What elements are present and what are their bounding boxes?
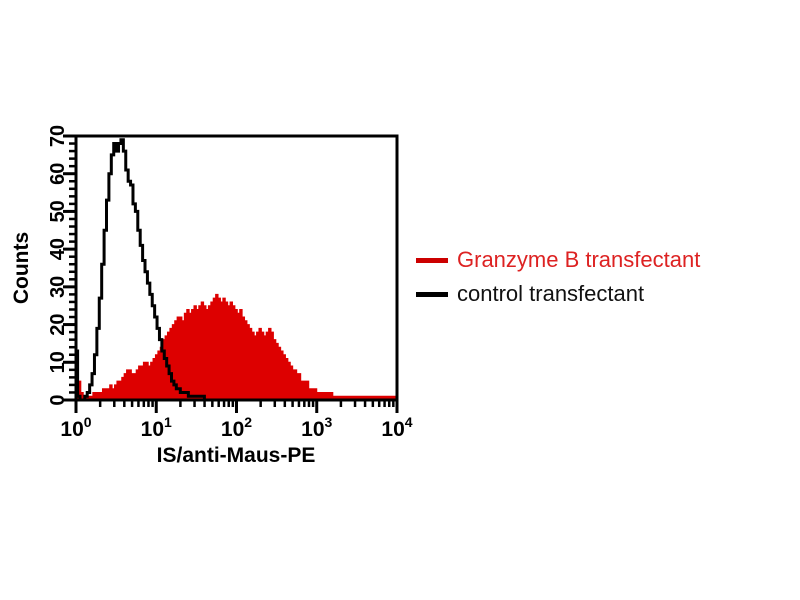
y-tick-label: 10 <box>47 351 69 373</box>
y-tick-label: 50 <box>47 200 69 222</box>
y-tick-label: 40 <box>47 238 69 260</box>
legend-item-granzyme-b-transfectant: Granzyme B transfectant <box>416 243 800 277</box>
x-axis-title: IS/anti-Maus-PE <box>157 444 316 467</box>
y-tick-label: 60 <box>47 163 69 185</box>
x-tick-label: 100 <box>60 414 91 441</box>
x-axis-tick-labels: 100101102103104 <box>60 414 412 441</box>
legend-label-granzyme-b-transfectant: Granzyme B transfectant <box>457 248 700 272</box>
y-tick-label: 20 <box>47 313 69 335</box>
legend-swatch-black-line <box>416 292 448 297</box>
flow-cytometry-figure: 010203040506070 100101102103104 IS/anti-… <box>0 0 800 600</box>
y-axis-tick-labels: 010203040506070 <box>47 125 69 406</box>
y-tick-label: 30 <box>47 276 69 298</box>
x-axis-ticks <box>76 400 397 413</box>
x-tick-label: 101 <box>141 414 172 441</box>
legend-swatch-red-line <box>416 258 448 263</box>
x-tick-label: 104 <box>381 414 412 441</box>
y-tick-label: 70 <box>47 125 69 147</box>
x-tick-label: 103 <box>301 414 332 441</box>
legend-label-control-transfectant: control transfectant <box>457 282 644 306</box>
chart-legend: Granzyme B transfectant control transfec… <box>416 243 800 311</box>
y-axis-title: Counts <box>10 232 33 304</box>
x-tick-label: 102 <box>221 414 252 441</box>
legend-item-control-transfectant: control transfectant <box>416 277 800 311</box>
y-tick-label: 0 <box>47 394 69 405</box>
